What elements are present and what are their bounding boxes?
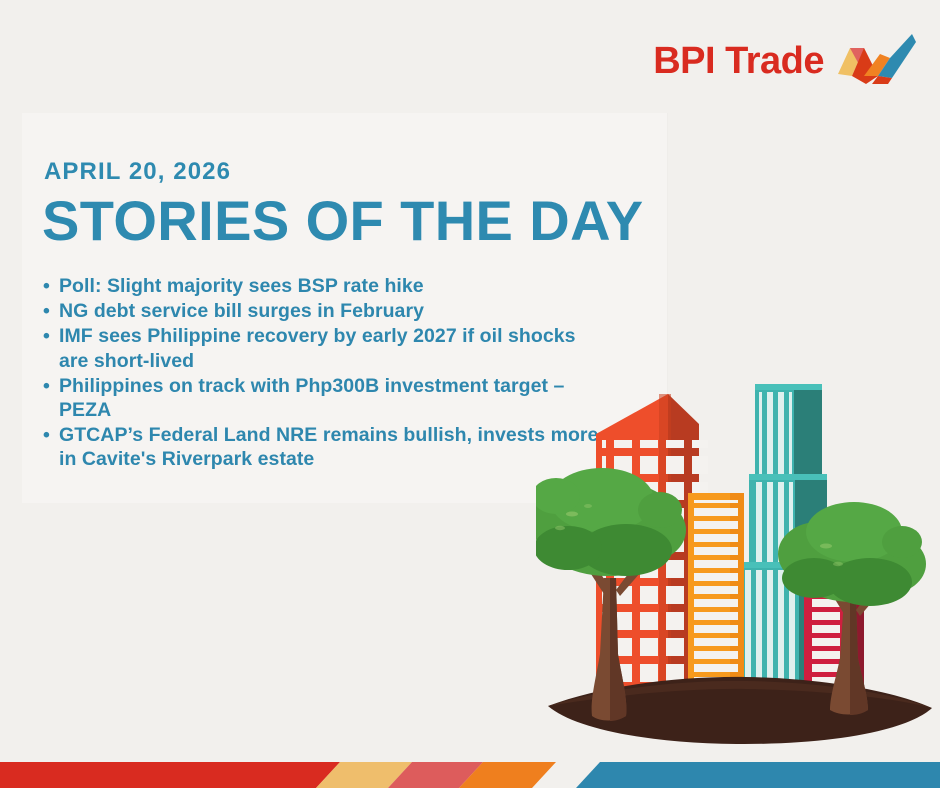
brand-wordmark: BPI Trade — [653, 42, 824, 80]
list-item[interactable]: Poll: Slight majority sees BSP rate hike — [42, 274, 602, 298]
publication-date: APRIL 20, 2026 — [44, 160, 231, 184]
list-item[interactable]: IMF sees Philippine recovery by early 20… — [42, 324, 602, 372]
building-orange — [688, 493, 744, 696]
stripe-red — [0, 762, 340, 788]
city-skyline-illustration — [536, 378, 940, 753]
footer-stripe-band — [0, 762, 940, 788]
poster-canvas: BPI Trade APRIL 20, 2026 STORIES OF THE … — [0, 0, 940, 788]
list-item[interactable]: Philippines on track with Php300B invest… — [42, 374, 602, 422]
stories-list: Poll: Slight majority sees BSP rate hike… — [42, 274, 602, 473]
brand-logo[interactable]: BPI Trade — [653, 32, 918, 90]
page-title: STORIES OF THE DAY — [42, 192, 644, 251]
stripe-blue — [576, 762, 940, 788]
list-item[interactable]: NG debt service bill surges in February — [42, 299, 602, 323]
bpi-trade-chevron-mark-icon — [836, 32, 918, 90]
list-item[interactable]: GTCAP’s Federal Land NRE remains bullish… — [42, 423, 602, 471]
